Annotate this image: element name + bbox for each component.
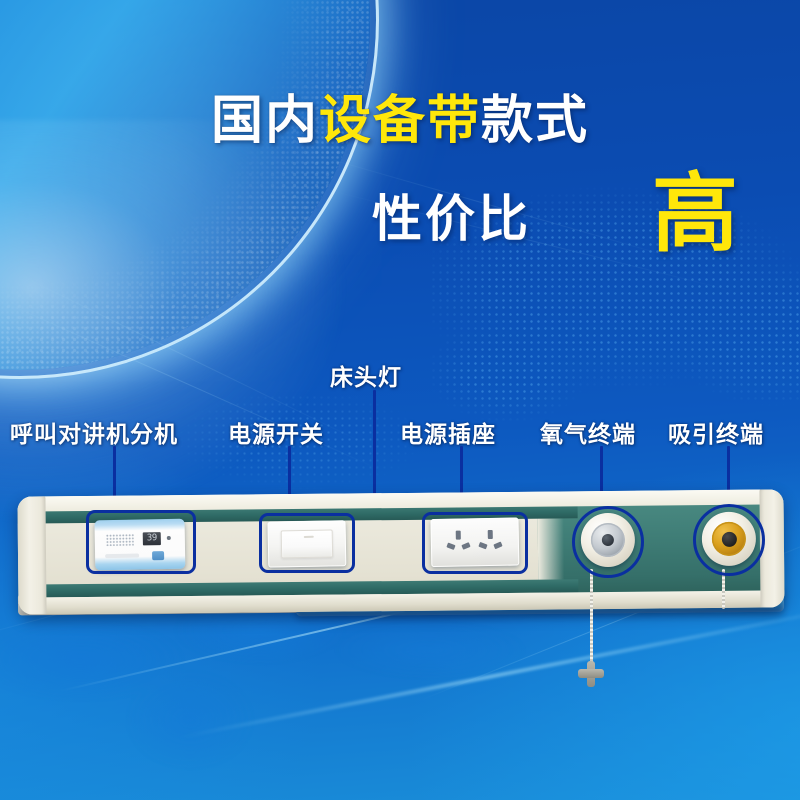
- highlight-box-intercom: [86, 510, 196, 574]
- headline-seg-1: 国内: [211, 91, 319, 151]
- highlight-box-power-outlet: [422, 512, 528, 574]
- highlight-box-power-switch: [259, 513, 355, 573]
- callout-label-intercom: 呼叫对讲机分机: [10, 415, 178, 449]
- highlight-circle-oxygen: [572, 506, 644, 578]
- panel-left-endcap: [17, 494, 46, 614]
- callout-label-suction: 吸引终端: [668, 415, 764, 449]
- pull-cord-handle[interactable]: [578, 661, 604, 687]
- medical-bedhead-panel: 39: [18, 493, 784, 633]
- headline-line-2: 性价比 高: [0, 165, 800, 261]
- headline-block: 国内设备带款式 性价比 高: [0, 78, 800, 261]
- high-emphasis-text: 高: [652, 143, 738, 268]
- callout-label-power-outlet: 电源插座: [400, 415, 496, 449]
- callout-label-power-switch: 电源开关: [228, 415, 324, 449]
- headline-seg-2: 设备带: [319, 91, 481, 151]
- callout-label-oxygen: 氧气终端: [540, 415, 636, 449]
- headline-line-1: 国内设备带款式: [0, 78, 800, 153]
- oxygen-pull-cord[interactable]: [590, 569, 593, 665]
- headline-seg-3: 款式: [481, 91, 589, 151]
- poster-canvas: 国内设备带款式 性价比 高 呼叫对讲机分机 电源开关 床头灯 电源插座 氧气终端…: [0, 0, 800, 800]
- highlight-circle-suction: [693, 504, 765, 576]
- value-ratio-text: 性价比: [372, 179, 531, 251]
- callout-label-bed-lamp: 床头灯: [330, 358, 402, 392]
